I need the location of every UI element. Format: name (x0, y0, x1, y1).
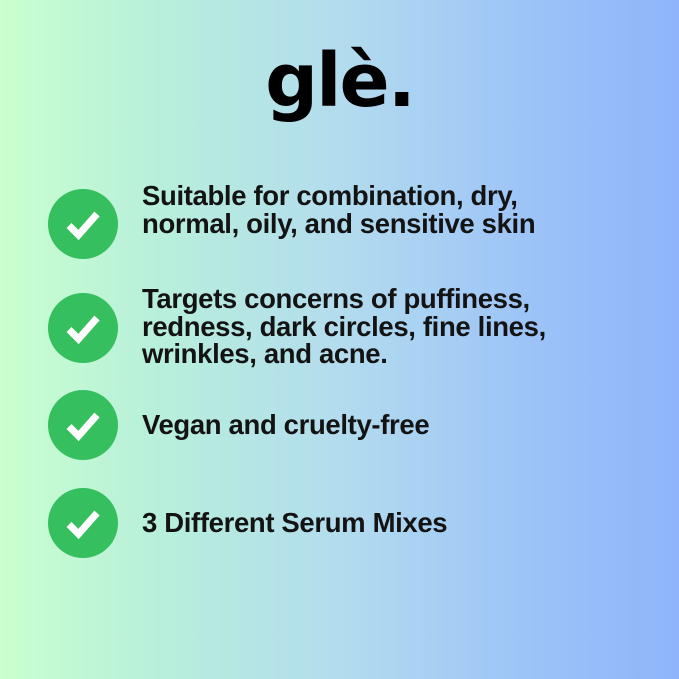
check-circle-icon (48, 189, 118, 259)
feature-label: 3 Different Serum Mixes (118, 509, 648, 537)
check-circle-icon (48, 390, 118, 460)
feature-label: Suitable for combination, dry, normal, o… (118, 182, 648, 237)
list-item: Vegan and cruelty-free (48, 390, 648, 460)
check-circle-icon (48, 293, 118, 363)
feature-label: Targets concerns of puffiness, redness, … (118, 285, 648, 368)
feature-list: Suitable for combination, dry, normal, o… (48, 182, 648, 558)
feature-label: Vegan and cruelty-free (118, 411, 648, 439)
list-item: Suitable for combination, dry, normal, o… (48, 182, 648, 259)
brand-wordmark: glè. (0, 44, 679, 118)
product-feature-poster: glè. Suitable for combination, dry, norm… (0, 0, 679, 679)
list-item: 3 Different Serum Mixes (48, 488, 648, 558)
list-item: Targets concerns of puffiness, redness, … (48, 285, 648, 368)
check-circle-icon (48, 488, 118, 558)
